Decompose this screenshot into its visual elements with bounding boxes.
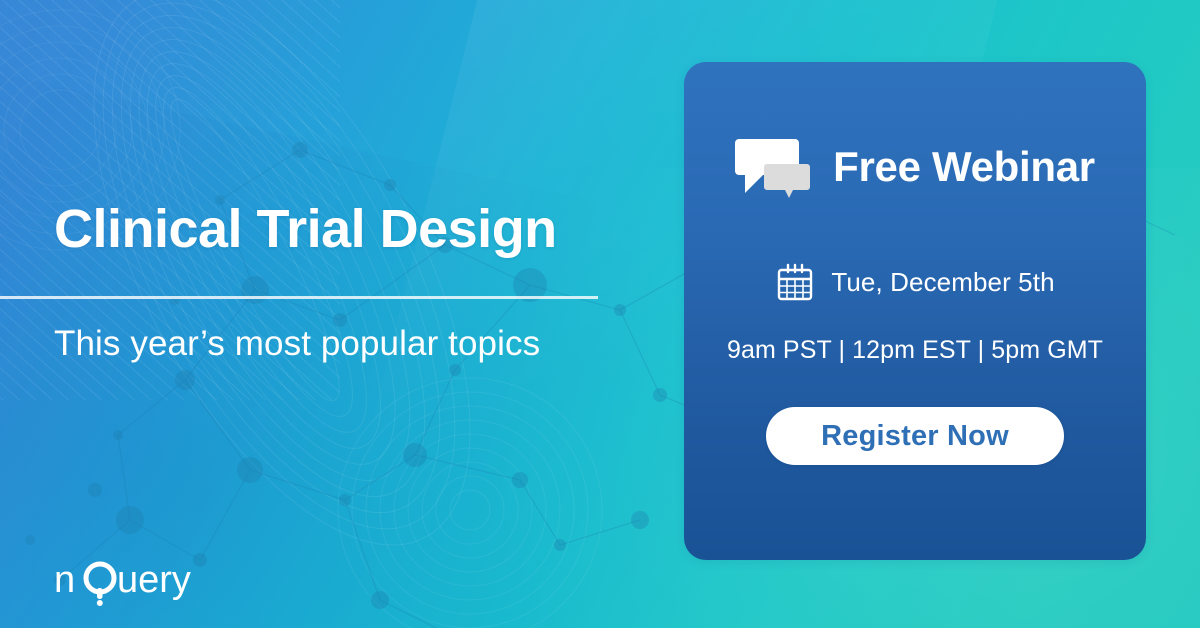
speech-bubbles-icon bbox=[735, 134, 813, 200]
card-times: 9am PST | 12pm EST | 5pm GMT bbox=[727, 336, 1103, 365]
nquery-logo[interactable]: n uery nQuery bbox=[54, 558, 204, 606]
headline-block: Clinical Trial Design bbox=[54, 200, 614, 258]
calendar-icon bbox=[775, 262, 815, 302]
card-title: Free Webinar bbox=[833, 146, 1095, 188]
card-date-row: Tue, December 5th bbox=[775, 262, 1054, 302]
page-subtitle: This year’s most popular topics bbox=[54, 322, 574, 367]
svg-text:uery: uery bbox=[117, 559, 191, 601]
card-header: Free Webinar bbox=[735, 134, 1095, 200]
page-title: Clinical Trial Design bbox=[54, 200, 614, 258]
webinar-promo-banner: Clinical Trial Design This year’s most p… bbox=[0, 0, 1200, 628]
nquery-logo-mark: n uery bbox=[54, 558, 204, 606]
webinar-card: Free Webinar Tue, December 5th 9am P bbox=[684, 62, 1146, 560]
title-divider bbox=[0, 296, 598, 299]
register-now-button[interactable]: Register Now bbox=[766, 407, 1064, 465]
svg-text:n: n bbox=[54, 559, 75, 601]
card-date: Tue, December 5th bbox=[831, 267, 1054, 298]
